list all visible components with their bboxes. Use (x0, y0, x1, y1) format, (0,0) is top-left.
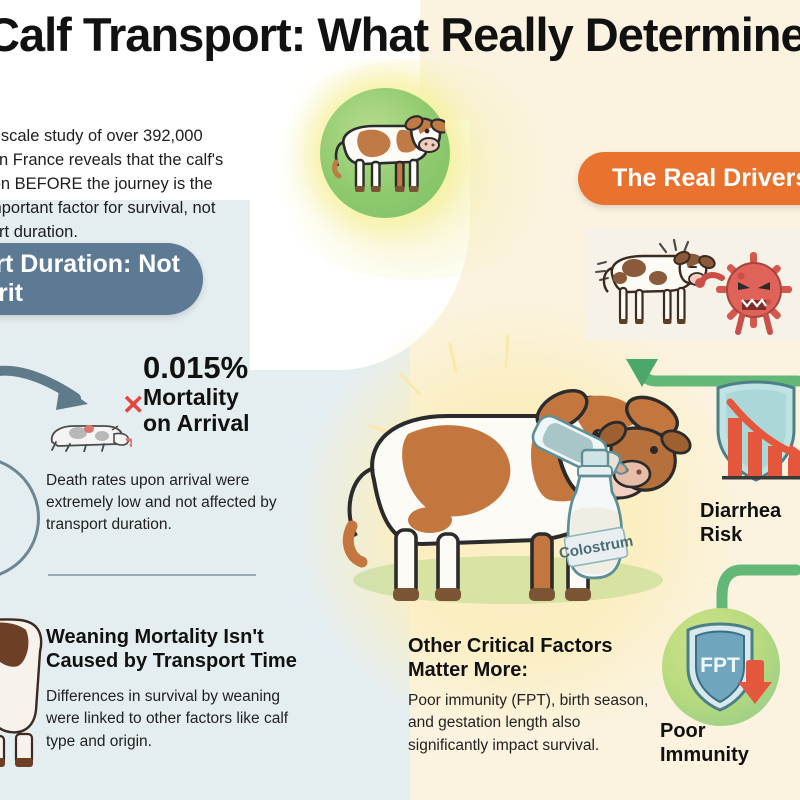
poor-immunity-label: Poor Immunity (660, 720, 800, 767)
poor-immunity-label-line2: Immunity (660, 744, 800, 768)
diarrhea-risk-icon (700, 378, 800, 498)
other-factors-body: Poor immunity (FPT), birth season, and g… (408, 690, 658, 757)
mortality-stat-description: Death rates upon arrival were extremely … (46, 470, 286, 536)
sick-calf-with-virus-icon (592, 234, 797, 338)
badge-transport-duration: Transport Duration: Not the Culprit (0, 243, 203, 315)
dead-calf-icon (46, 412, 132, 452)
colostrum-bottle-icon: Colostrum (552, 448, 644, 590)
red-cross-mark: ✕ (122, 390, 145, 421)
diarrhea-risk-label-line1: Diarrhea (700, 500, 800, 524)
mortality-stat-label-line2: on Arrival (143, 411, 323, 437)
left-section-divider (48, 574, 256, 576)
fpt-shield-text: FPT (700, 654, 740, 677)
badge-left-label: Transport Duration: Not the Culprit (0, 250, 203, 308)
page-title: Calf Transport: What Really Determines S… (0, 8, 800, 62)
diarrhea-risk-label: Diarrhea Risk (700, 500, 800, 547)
other-factors-heading: Other Critical Factors Matter More: (408, 634, 648, 683)
badge-real-drivers: The Real Drivers (578, 152, 800, 205)
diarrhea-risk-label-line2: Risk (700, 524, 800, 548)
fpt-shield-icon: FPT (678, 620, 782, 718)
partial-calf-icon (0, 618, 56, 768)
badge-right-label: The Real Drivers (612, 164, 800, 193)
mortality-stat-label: Mortality on Arrival (143, 385, 323, 437)
mortality-stat-value: 0.015% (143, 352, 323, 383)
weaning-section-body: Differences in survival by weaning were … (46, 686, 301, 753)
mortality-stat-label-line1: Mortality (143, 385, 323, 411)
infographic-canvas: Calf Transport: What Really Determines S… (0, 0, 800, 800)
intro-paragraph: A large-scale study of over 392,000 calv… (0, 125, 244, 245)
poor-immunity-label-line1: Poor (660, 720, 800, 744)
weaning-section-heading: Weaning Mortality Isn't Caused by Transp… (46, 625, 326, 674)
mortality-stat-block: 0.015% Mortality on Arrival (143, 352, 323, 437)
healthy-calf-icon (330, 100, 445, 205)
